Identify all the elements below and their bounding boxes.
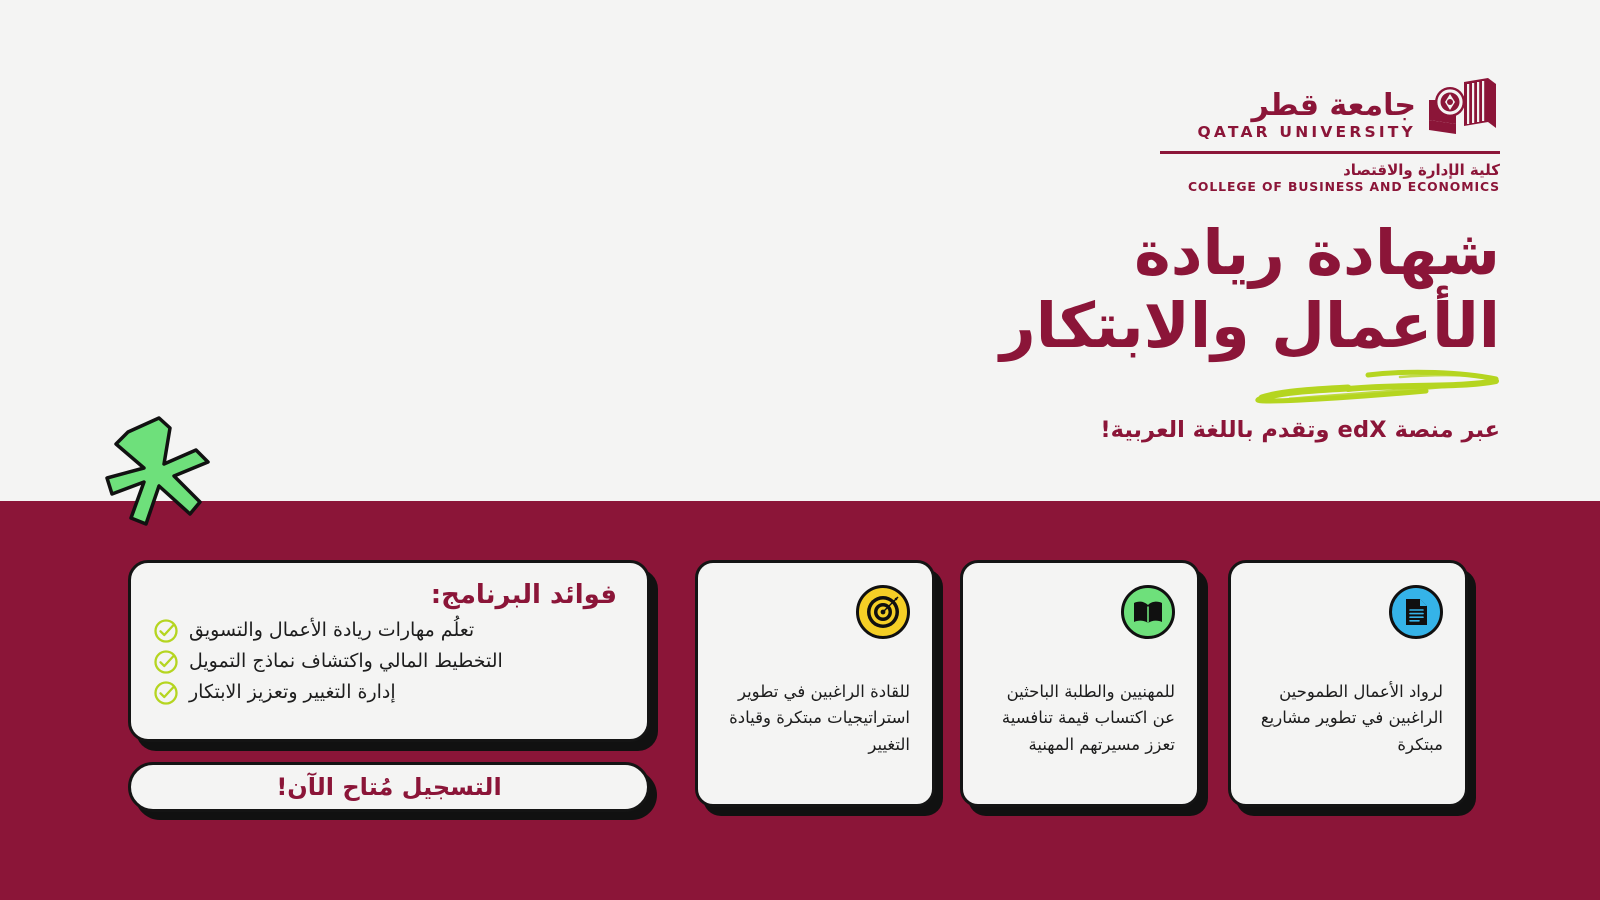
logo-wordmark: جامعة قطر QATAR UNIVERSITY: [1198, 90, 1416, 144]
benefit-text: التخطيط المالي واكتشاف نماذج التمويل: [189, 649, 503, 675]
register-now-button-label: التسجيل مُتاح الآن!: [276, 773, 501, 801]
benefit-text: تعلُم مهارات ريادة الأعمال والتسويق: [189, 618, 474, 644]
qatar-university-logo-lockup: جامعة قطر QATAR UNIVERSITY: [1160, 70, 1500, 196]
logo-top-row: جامعة قطر QATAR UNIVERSITY: [1160, 70, 1500, 144]
audience-card-entrepreneurs: لرواد الأعمال الطموحين الراغبين في تطوير…: [1228, 560, 1468, 807]
register-now-button[interactable]: التسجيل مُتاح الآن!: [128, 762, 650, 812]
logo-university-name-arabic: جامعة قطر: [1198, 90, 1416, 122]
audience-card-professionals: للمهنيين والطلبة الباحثين عن اكتساب قيمة…: [960, 560, 1200, 807]
page-title-line-2: الأعمال والابتكار: [860, 289, 1500, 362]
promo-banner: جامعة قطر QATAR UNIVERSITY: [0, 0, 1600, 900]
audience-card-leaders: للقادة الراغبين في تطوير استراتيجيات مبت…: [695, 560, 935, 807]
circle-check-icon: [153, 649, 179, 675]
circle-check-icon: [153, 680, 179, 706]
logo-college-name-english: COLLEGE OF BUSINESS AND ECONOMICS: [1160, 179, 1500, 196]
page-title-line-1: شهادة ريادة: [860, 216, 1500, 289]
benefit-list-item: التخطيط المالي واكتشاف نماذج التمويل: [153, 649, 617, 675]
hero-section: شهادة ريادة الأعمال والابتكار عبر منصة e…: [860, 216, 1500, 446]
benefit-text: إدارة التغيير وتعزيز الابتكار: [189, 680, 396, 706]
benefits-card: فوائد البرنامج: تعلُم مهارات ريادة الأعم…: [128, 560, 650, 742]
audience-card-text: لرواد الأعمال الطموحين الراغبين في تطوير…: [1253, 679, 1443, 758]
logo-college-block: كلية الإدارة والاقتصاد COLLEGE OF BUSINE…: [1160, 161, 1500, 196]
green-brush-underline-icon: [860, 368, 1500, 408]
logo-university-name-english: QATAR UNIVERSITY: [1198, 123, 1416, 142]
document-page-icon: [1389, 585, 1443, 639]
open-book-icon: [1121, 585, 1175, 639]
green-asterisk-burst-icon: [100, 412, 218, 530]
benefit-list-item: تعلُم مهارات ريادة الأعمال والتسويق: [153, 618, 617, 644]
target-dartboard-icon: [856, 585, 910, 639]
benefits-title: فوائد البرنامج:: [153, 579, 617, 612]
benefit-list-item: إدارة التغيير وتعزيز الابتكار: [153, 680, 617, 706]
audience-card-text: للمهنيين والطلبة الباحثين عن اكتساب قيمة…: [985, 679, 1175, 758]
circle-check-icon: [153, 618, 179, 644]
hero-subtitle: عبر منصة edX وتقدم باللغة العربية!: [860, 416, 1500, 445]
logo-college-name-arabic: كلية الإدارة والاقتصاد: [1160, 161, 1500, 180]
audience-card-text: للقادة الراغبين في تطوير استراتيجيات مبت…: [720, 679, 910, 758]
logo-divider-rule: [1160, 151, 1500, 154]
qatar-university-emblem-icon: [1426, 76, 1500, 144]
